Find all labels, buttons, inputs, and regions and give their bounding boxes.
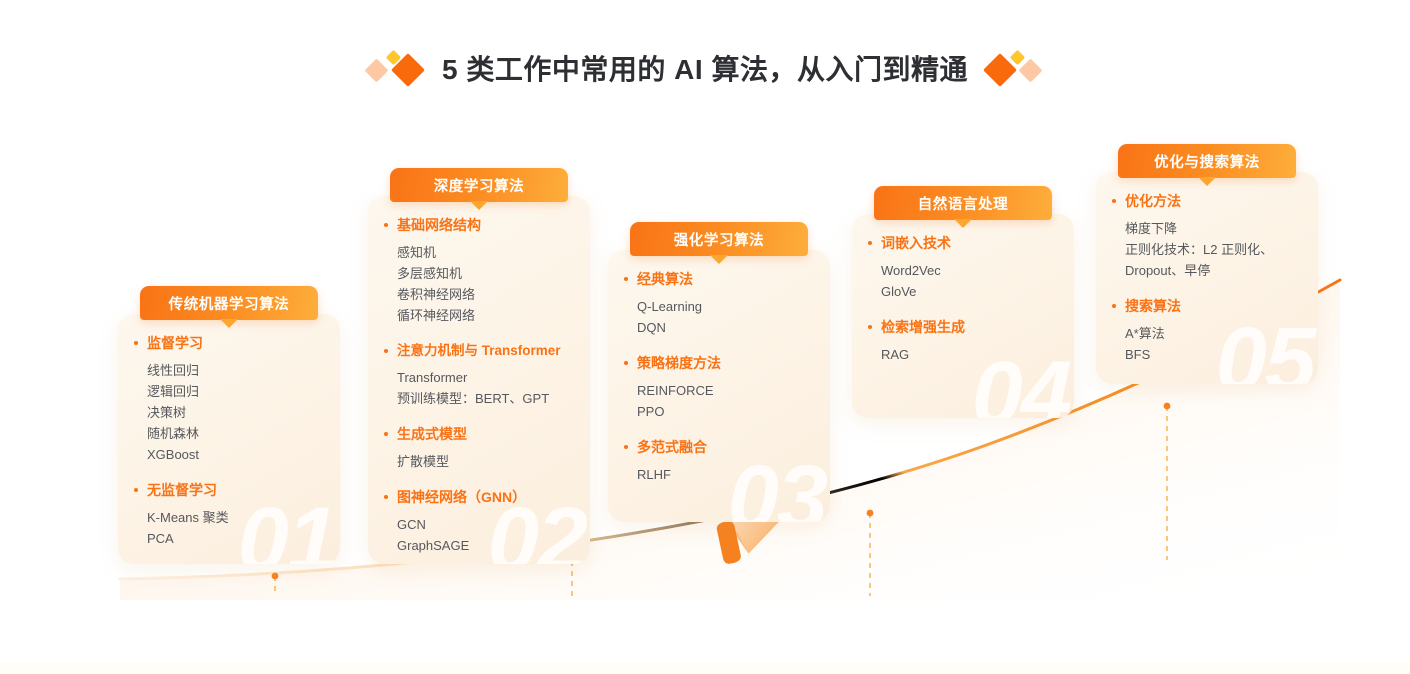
bullet-icon [868,325,872,329]
header-notch-icon [954,219,972,228]
card-02-header: 深度学习算法 [390,168,568,202]
bullet-icon [624,445,628,449]
list-item: GCN [384,514,572,535]
group-title: 策略梯度方法 [624,354,812,373]
list-item: PPO [624,401,812,422]
list-item: RLHF [624,464,812,485]
card-03-header: 强化学习算法 [630,222,808,256]
card-01-header: 传统机器学习算法 [140,286,318,320]
list-item: K-Means 聚类 [134,507,322,528]
list-item: BFS [1112,344,1300,365]
card-03-group-1: 策略梯度方法 REINFORCE PPO [624,354,812,422]
curve-dot-04 [1164,403,1171,410]
bullet-icon [1112,304,1116,308]
list-item: 预训练模型：BERT、GPT [384,388,572,409]
group-title: 检索增强生成 [868,318,1056,337]
list-item: RAG [868,344,1056,365]
bullet-icon [624,361,628,365]
card-01-body: 01 监督学习 线性回归 逻辑回归 决策树 随机森林 XGBoost 无监督学习… [118,314,340,564]
bullet-icon [384,223,388,227]
bullet-icon [134,488,138,492]
list-item: 线性回归 [134,360,322,381]
list-item: 梯度下降 [1112,218,1300,239]
header-notch-icon [1198,177,1216,186]
card-04-header: 自然语言处理 [874,186,1052,220]
list-item: 正则化技术：L2 正则化、 Dropout、早停 [1112,239,1300,281]
card-03-body: 03 经典算法 Q-Learning DQN 策略梯度方法 REINFORCE … [608,250,830,522]
list-item: 逻辑回归 [134,381,322,402]
title-row: 5 类工作中常用的 AI 算法，从入门到精通 [0,48,1410,88]
group-title: 生成式模型 [384,425,572,444]
group-title: 监督学习 [134,334,322,353]
group-title: 搜索算法 [1112,297,1300,316]
curve-dot-03 [867,510,874,517]
pale-diamond-icon [365,58,389,82]
bullet-icon [1112,199,1116,203]
card-02-group-1: 注意力机制与 Transformer Transformer 预训练模型：BER… [384,342,572,409]
title-decoration-right-icon [986,48,1044,88]
card-02-group-2: 生成式模型 扩散模型 [384,425,572,472]
list-item: A*算法 [1112,323,1300,344]
title-decoration-left-icon [366,48,424,88]
page-title: 5 类工作中常用的 AI 算法，从入门到精通 [442,48,968,88]
card-02-header-label: 深度学习算法 [434,175,525,196]
card-05-header-label: 优化与搜索算法 [1154,151,1260,172]
card-04-header-label: 自然语言处理 [918,193,1009,214]
pale-diamond-icon [1018,58,1042,82]
curve-dot-01 [272,573,279,580]
list-item: GloVe [868,281,1056,302]
card-01-header-label: 传统机器学习算法 [169,293,290,314]
group-title: 无监督学习 [134,481,322,500]
card-02-group-0: 基础网络结构 感知机 多层感知机 卷积神经网络 循环神经网络 [384,216,572,326]
card-04-group-1: 检索增强生成 RAG [868,318,1056,365]
list-item: DQN [624,317,812,338]
bullet-icon [134,341,138,345]
list-item: 循环神经网络 [384,305,572,326]
group-title: 多范式融合 [624,438,812,457]
card-02-body: 02 基础网络结构 感知机 多层感知机 卷积神经网络 循环神经网络 注意力机制与… [368,196,590,564]
group-title: 词嵌入技术 [868,234,1056,253]
card-03-header-label: 强化学习算法 [674,229,765,250]
yellow-diamond-icon [1010,50,1026,66]
list-item: 决策树 [134,402,322,423]
card-05-group-1: 搜索算法 A*算法 BFS [1112,297,1300,365]
list-item: 扩散模型 [384,451,572,472]
header-notch-icon [710,255,728,264]
list-item: Q-Learning [624,296,812,317]
list-item: GraphSAGE [384,535,572,556]
list-item: XGBoost [134,444,322,465]
card-05-group-0: 优化方法 梯度下降 正则化技术：L2 正则化、 Dropout、早停 [1112,192,1300,281]
list-item: Word2Vec [868,260,1056,281]
list-item: REINFORCE [624,380,812,401]
bullet-icon [384,495,388,499]
list-item: Transformer [384,367,572,388]
group-title: 基础网络结构 [384,216,572,235]
card-02-group-3: 图神经网络（GNN） GCN GraphSAGE [384,488,572,556]
group-title: 注意力机制与 Transformer [384,342,572,360]
bullet-icon [384,432,388,436]
header-notch-icon [220,319,238,328]
list-item: 随机森林 [134,423,322,444]
bullet-icon [868,241,872,245]
card-03-group-0: 经典算法 Q-Learning DQN [624,270,812,338]
group-title: 经典算法 [624,270,812,289]
card-01-group-0: 监督学习 线性回归 逻辑回归 决策树 随机森林 XGBoost [134,334,322,465]
card-04-body: 04 词嵌入技术 Word2Vec GloVe 检索增强生成 RAG [852,214,1074,418]
group-title: 优化方法 [1112,192,1300,211]
card-05-header: 优化与搜索算法 [1118,144,1296,178]
list-item: 卷积神经网络 [384,284,572,305]
list-item: PCA [134,528,322,549]
list-item: 感知机 [384,242,572,263]
card-01-group-1: 无监督学习 K-Means 聚类 PCA [134,481,322,549]
header-notch-icon [470,201,488,210]
bullet-icon [384,349,388,353]
group-title: 图神经网络（GNN） [384,488,572,507]
list-item: 多层感知机 [384,263,572,284]
card-03-group-2: 多范式融合 RLHF [624,438,812,485]
card-05-body: 05 优化方法 梯度下降 正则化技术：L2 正则化、 Dropout、早停 搜索… [1096,172,1318,384]
bottom-accent-strip [0,662,1410,674]
card-04-group-0: 词嵌入技术 Word2Vec GloVe [868,234,1056,302]
bullet-icon [624,277,628,281]
